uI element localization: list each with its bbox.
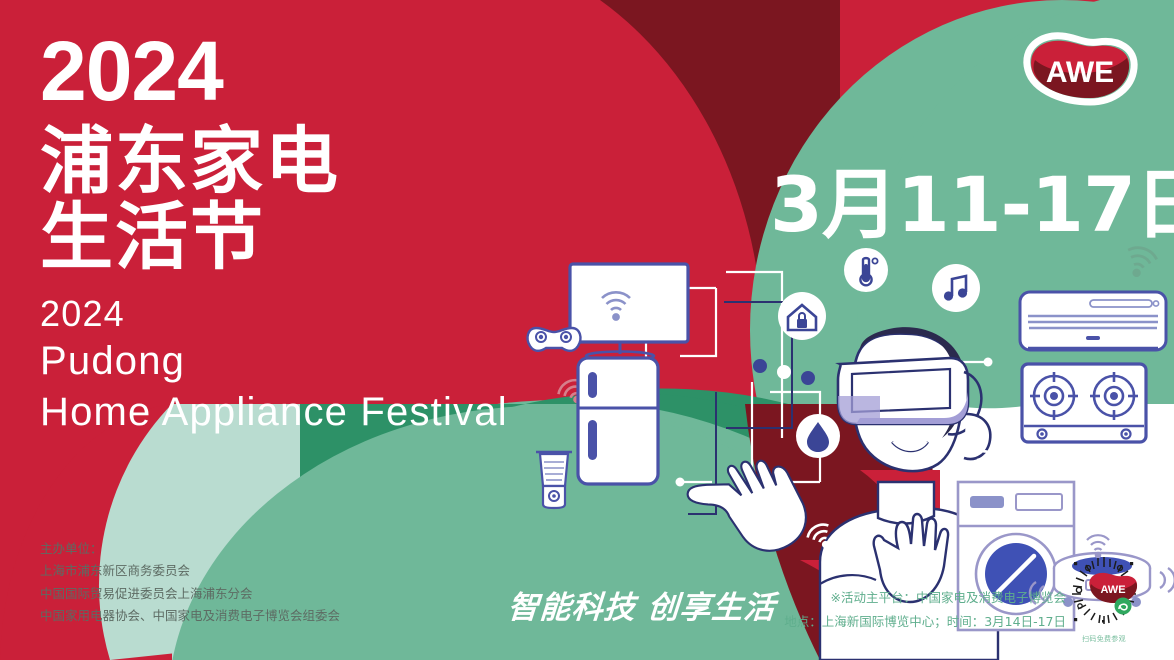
page-title-chinese: 浦东家电 生活节: [40, 124, 560, 274]
qr-code-caption: 扫码免费参观: [1068, 634, 1140, 644]
subtitle-line2: Home Appliance Festival: [40, 387, 560, 438]
page-title-chinese-line2: 生活节: [40, 200, 560, 275]
qr-code-block[interactable]: AWE 扫码免费参观: [1068, 556, 1140, 644]
wire-node: [676, 478, 685, 487]
event-info-line2: 地点：上海新国际博览中心；时间：3月14日-17日: [784, 610, 1066, 634]
refrigerator-icon: [578, 358, 658, 484]
music-note-icon: [932, 264, 980, 312]
qr-code-icon[interactable]: AWE: [1068, 556, 1140, 628]
subtitle-year: 2024: [40, 291, 560, 336]
event-info-block: ※活动主平台：中国家电及消费电子博览会 地点：上海新国际博览中心；时间：3月14…: [784, 586, 1066, 635]
organizer-item: 中国家用电器协会、中国家电及消费电子博览会组委会: [40, 605, 340, 627]
awe-logo: AWE: [1018, 30, 1142, 108]
subtitle-line1: Pudong: [40, 336, 560, 387]
indicator-dots: [753, 359, 815, 385]
air-conditioner-icon: [1020, 292, 1166, 350]
thermometer-icon: [844, 248, 888, 292]
date-badge: 3月11-17日: [770, 143, 1174, 253]
television-icon: [570, 264, 688, 361]
blender-icon: [536, 452, 572, 508]
page-title-year: 2024: [40, 30, 560, 112]
event-info-line1: ※活动主平台：中国家电及消费电子博览会: [784, 586, 1066, 610]
slogan-text: 智能科技 创享生活: [506, 582, 777, 627]
organizer-item: 上海市浦东新区商务委员会: [40, 560, 340, 582]
organizer-item: 中国国际贸易促进委员会上海浦东分会: [40, 583, 340, 605]
svg-text:AWE: AWE: [1100, 584, 1125, 596]
water-drop-icon: [796, 414, 840, 458]
organizers-block: 主办单位： 上海市浦东新区商务委员会 中国国际贸易促进委员会上海浦东分会 中国家…: [40, 538, 340, 627]
awe-logo-text: AWE: [1046, 56, 1114, 89]
subtitle-block: 2024 Pudong Home Appliance Festival: [40, 291, 560, 438]
organizers-label: 主办单位：: [40, 538, 340, 560]
poster-canvas: 2024 浦东家电 生活节 2024 Pudong Home Appliance…: [0, 0, 1174, 660]
title-block: 2024 浦东家电 生活节 2024 Pudong Home Appliance…: [40, 30, 560, 438]
page-title-chinese-line1: 浦东家电: [40, 124, 560, 199]
smart-home-lock-icon: [778, 292, 826, 340]
gas-stove-icon: [1022, 364, 1146, 442]
wire-node: [984, 358, 993, 367]
wechat-miniprogram-icon: [1115, 598, 1132, 615]
